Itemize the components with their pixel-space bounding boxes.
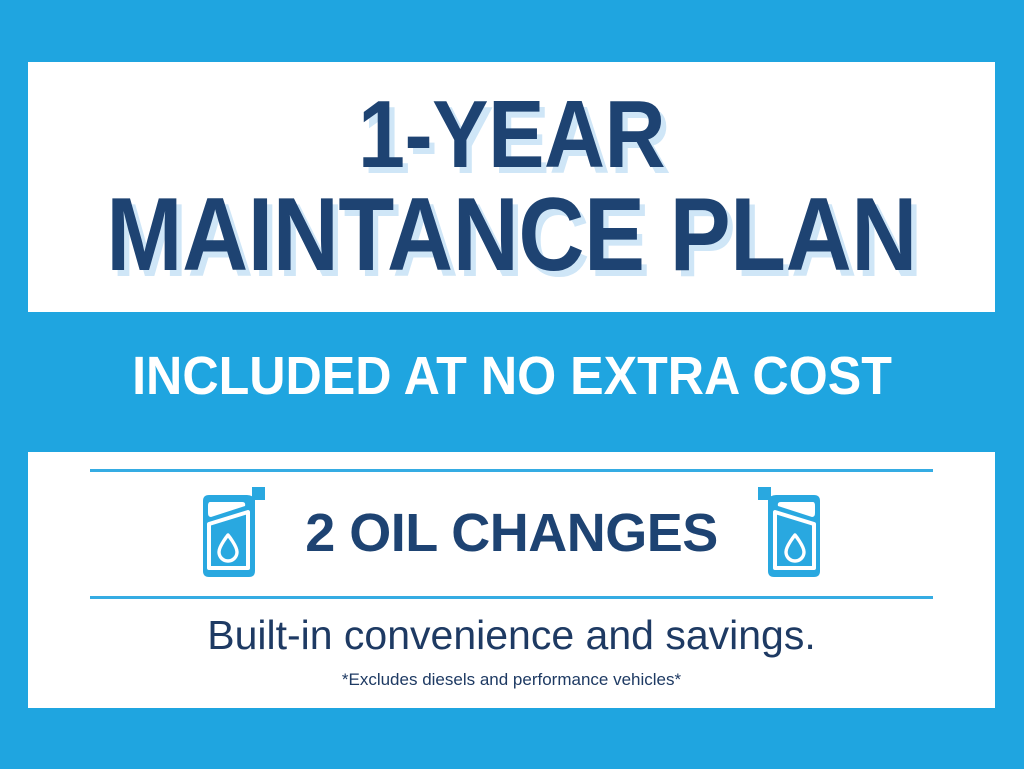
offer-row: 2 OIL CHANGES bbox=[28, 476, 995, 590]
divider-bottom bbox=[90, 596, 933, 599]
promo-poster: 1-YEAR MAINTANCE PLAN INCLUDED AT NO EXT… bbox=[0, 0, 1024, 769]
headline-card: 1-YEAR MAINTANCE PLAN bbox=[28, 62, 995, 312]
offer-card: 2 OIL CHANGES Built-in convenience and s… bbox=[28, 452, 995, 708]
fineprint-disclaimer: *Excludes diesels and performance vehicl… bbox=[28, 670, 995, 690]
divider-top bbox=[90, 469, 933, 472]
oil-can-icon bbox=[195, 485, 271, 581]
tagline: Built-in convenience and savings. bbox=[28, 612, 995, 659]
headline-line-1: 1-YEAR bbox=[358, 89, 665, 180]
subheading: INCLUDED AT NO EXTRA COST bbox=[36, 345, 988, 407]
offer-label: 2 OIL CHANGES bbox=[305, 502, 718, 564]
headline-line-2: MAINTANCE PLAN bbox=[106, 186, 917, 285]
oil-can-icon bbox=[752, 485, 828, 581]
